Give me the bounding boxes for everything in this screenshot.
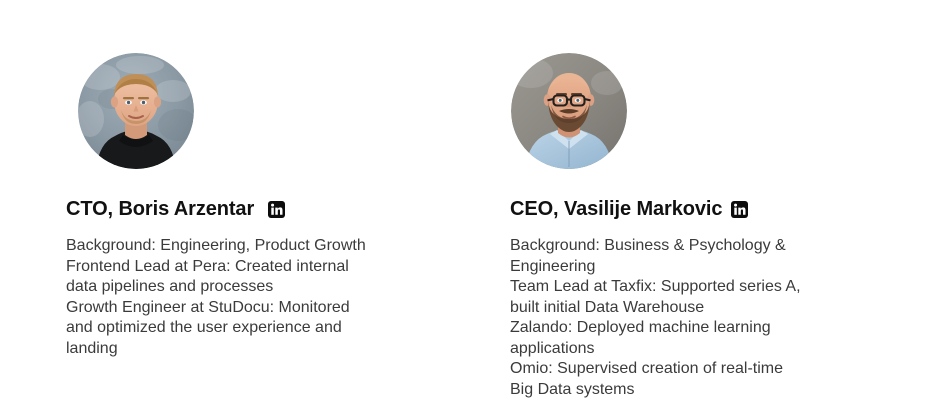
profile-name: CEO, Vasilije Markovic <box>510 197 722 221</box>
bio-line: applications <box>510 339 855 360</box>
bio-line: Frontend Lead at Pera: Created internal <box>66 257 411 278</box>
bio-line: data pipelines and processes <box>66 277 411 298</box>
bio-line: Omio: Supervised creation of real-time <box>510 359 855 380</box>
profile-name: CTO, Boris Arzentar <box>66 197 254 221</box>
bio-line: landing <box>66 339 411 360</box>
linkedin-icon[interactable] <box>731 201 748 218</box>
bio-line: Engineering <box>510 257 855 278</box>
bio-line: Growth Engineer at StuDocu: Monitored <box>66 298 411 319</box>
bio-line: Big Data systems <box>510 380 855 401</box>
team-profiles-section: CTO, Boris Arzentar Background: Engineer… <box>0 0 948 412</box>
bio-line: built initial Data Warehouse <box>510 298 855 319</box>
profile-bio: Background: Engineering, Product Growth … <box>66 236 411 359</box>
profile-bio: Background: Business & Psychology & Engi… <box>510 236 855 400</box>
avatar <box>78 53 194 169</box>
profile-name-row: CEO, Vasilije Markovic <box>510 197 748 221</box>
avatar <box>511 53 627 169</box>
linkedin-icon[interactable] <box>268 201 285 218</box>
bio-line: Team Lead at Taxfix: Supported series A, <box>510 277 855 298</box>
bio-line: Background: Engineering, Product Growth <box>66 236 411 257</box>
bio-line: Zalando: Deployed machine learning <box>510 318 855 339</box>
bio-line: Background: Business & Psychology & <box>510 236 855 257</box>
bio-line: and optimized the user experience and <box>66 318 411 339</box>
profile-name-row: CTO, Boris Arzentar <box>66 197 285 221</box>
